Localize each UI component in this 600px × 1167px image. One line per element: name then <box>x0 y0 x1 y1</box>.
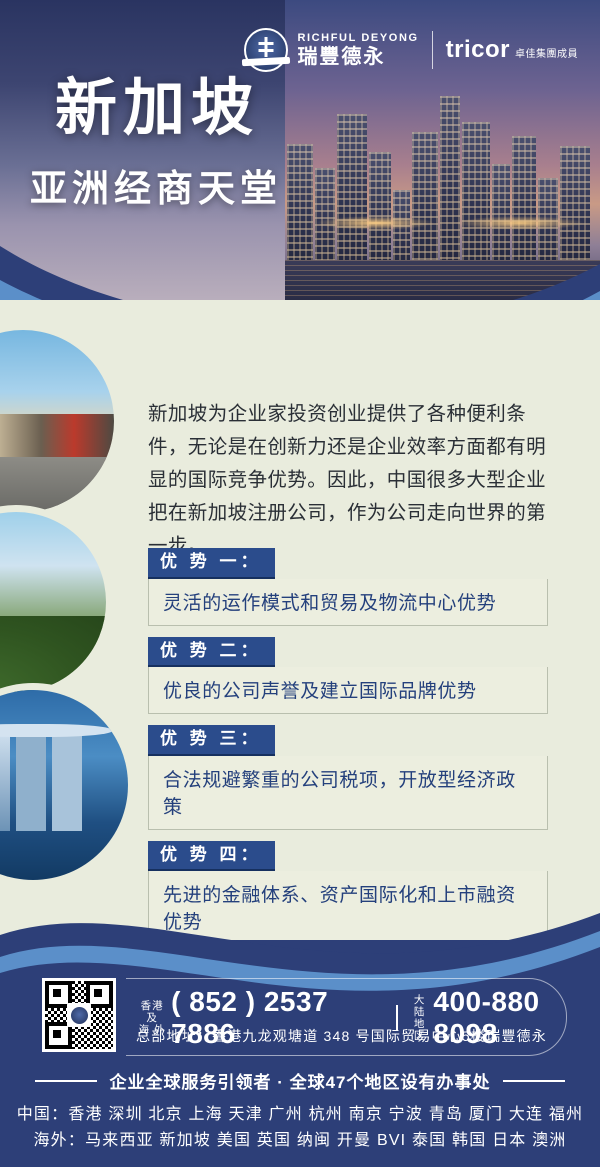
wechat-qr-code[interactable] <box>42 978 116 1052</box>
tricor-member-note: 卓佳集團成員 <box>515 45 578 62</box>
qr-center-logo-icon <box>67 1003 91 1027</box>
slogan-rule-right <box>503 1080 565 1082</box>
richful-seal-icon <box>244 28 288 72</box>
advantage-item: 优 势 一： 灵活的运作模式和贸易及物流中心优势 <box>148 548 548 626</box>
poster-title: 新加坡 <box>55 78 259 140</box>
photo-circle-marina-bay-sands <box>0 690 128 880</box>
photo-circle-greenery <box>0 512 106 692</box>
advantage-text: 优良的公司声誉及建立国际品牌优势 <box>148 667 548 714</box>
slogan-rule-left <box>35 1080 97 1082</box>
offices-overseas: 海外：马来西亚 新加坡 美国 英国 纳闽 开曼 BVI 泰国 韩国 日本 澳洲 <box>0 1128 600 1154</box>
advantage-text: 灵活的运作模式和贸易及物流中心优势 <box>148 579 548 626</box>
brand-chinese-name: 瑞豐德永 <box>297 47 418 67</box>
advantage-text: 合法规避繁重的公司税项，开放型经济政策 <box>148 756 548 830</box>
photo-circle-shophouses <box>0 330 114 512</box>
advantage-tag: 优 势 一： <box>148 548 275 579</box>
company-slogan: 企业全球服务引领者 · 全球47个地区设有办事处 <box>0 1068 600 1093</box>
advantage-tag: 优 势 四： <box>148 841 275 872</box>
logo-divider <box>432 31 433 69</box>
skyline-buildings <box>285 49 600 264</box>
advantage-tag: 优 势 三： <box>148 725 275 756</box>
advantage-tag: 优 势 二： <box>148 637 275 668</box>
poster-root: 新加坡 亚洲经商天堂 RICHFUL DEYONG 瑞豐德永 tricor 卓佳… <box>0 0 600 1167</box>
brand-logo: RICHFUL DEYONG 瑞豐德永 tricor 卓佳集團成員 <box>244 28 578 72</box>
brand-english-name: RICHFUL DEYONG <box>297 33 418 44</box>
offices-china: 中国：香港 深圳 北京 上海 天津 广州 杭州 南京 宁波 青岛 厦门 大连 福… <box>0 1102 600 1128</box>
headquarters-address: 总部地址：香港九龙观塘道 348 号国际贸易中心5楼瑞豐德永 <box>136 1026 547 1046</box>
office-locations: 中国：香港 深圳 北京 上海 天津 广州 杭州 南京 宁波 青岛 厦门 大连 福… <box>0 1102 600 1154</box>
poster-subtitle: 亚洲经商天堂 <box>30 170 282 207</box>
intro-paragraph: 新加坡为企业家投资创业提供了各种便利条件，无论是在创新力还是企业效率方面都有明显… <box>148 398 558 563</box>
tricor-wordmark: tricor <box>446 38 510 62</box>
advantage-item: 优 势 三： 合法规避繁重的公司税项，开放型经济政策 <box>148 725 548 830</box>
advantage-item: 优 势 二： 优良的公司声誉及建立国际品牌优势 <box>148 637 548 715</box>
slogan-text: 企业全球服务引领者 · 全球47个地区设有办事处 <box>109 1068 490 1093</box>
